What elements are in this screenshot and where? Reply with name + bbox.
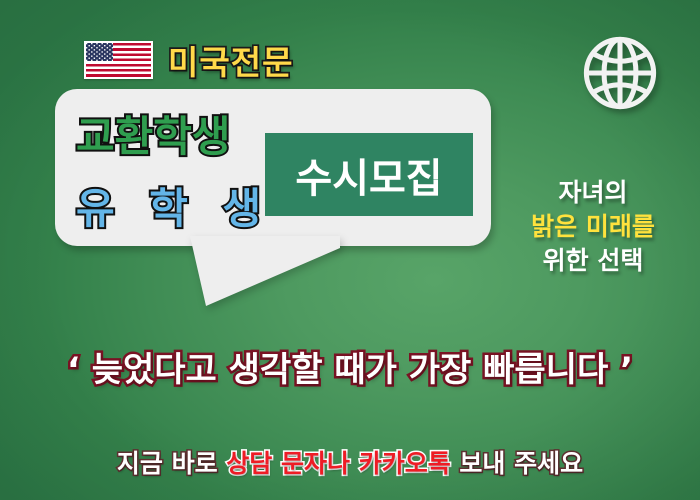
admission-badge: 수시모집	[265, 133, 473, 216]
parent-message-block: 자녀의 밝은 미래를 위한 선택	[512, 176, 674, 278]
parent-message-line-3: 위한 선택	[512, 244, 674, 278]
parent-message-line-2: 밝은 미래를	[512, 210, 674, 244]
admission-badge-label: 수시모집	[295, 146, 442, 204]
promo-banner: 미국전문 교환학생 유 학 생 수시모집 자녀의 밝은 미래를 위한 선택 ‘ …	[0, 0, 700, 500]
contact-cta: 지금 바로 상담 문자나 카카오톡 보내 주세요	[0, 444, 700, 480]
main-slogan: ‘ 늦었다고 생각할 때가 가장 빠릅니다 ’	[0, 342, 700, 391]
us-flag-icon	[84, 41, 153, 79]
study-abroad-student-label: 유 학 생	[76, 175, 271, 236]
speech-bubble-tail	[190, 236, 340, 316]
globe-icon	[578, 31, 662, 115]
cta-prefix: 지금 바로	[117, 449, 226, 478]
cta-suffix: 보내 주세요	[451, 449, 583, 478]
cta-highlight: 상담 문자나 카카오톡	[226, 449, 450, 478]
us-flag-stripes	[86, 43, 151, 77]
us-specialist-label: 미국전문	[168, 36, 293, 84]
exchange-student-label: 교환학생	[76, 103, 231, 164]
parent-message-line-1: 자녀의	[512, 176, 674, 210]
us-flag-canton	[86, 43, 113, 61]
